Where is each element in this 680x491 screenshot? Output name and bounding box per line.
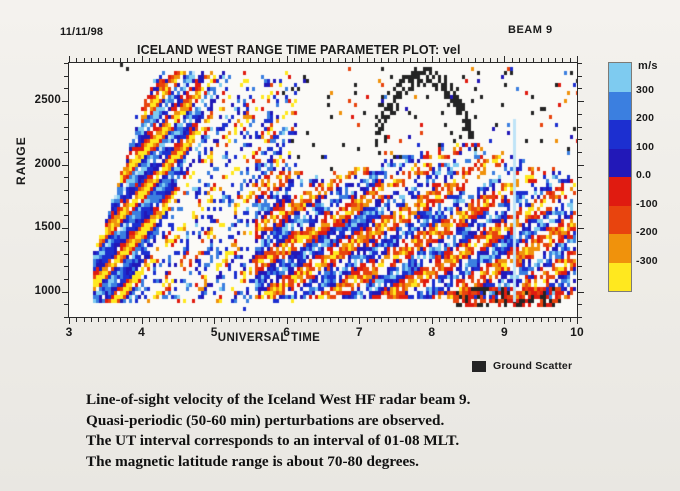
x-tick: [512, 317, 513, 322]
y-tick: [577, 304, 582, 305]
x-tick: [178, 317, 179, 322]
y-tick: [64, 266, 69, 267]
x-tick: [156, 58, 157, 63]
x-tick: [221, 58, 222, 63]
caption-line-1: Line-of-sight velocity of the Iceland We…: [86, 390, 606, 411]
x-tick: [185, 317, 186, 322]
plot-title: ICELAND WEST RANGE TIME PARAMETER PLOT: …: [137, 43, 461, 57]
x-tick: [308, 317, 309, 322]
y-tick: [577, 203, 582, 204]
y-tick: [577, 152, 582, 153]
x-tick: [439, 58, 440, 63]
x-tick: [279, 58, 280, 63]
x-tick: [171, 58, 172, 63]
x-tick: [577, 317, 578, 324]
y-tick: [577, 254, 582, 255]
x-tick: [76, 58, 77, 63]
y-tick: [64, 190, 69, 191]
x-tick: [127, 317, 128, 322]
x-tick: [127, 58, 128, 63]
x-tick: [359, 317, 360, 324]
y-tick: [577, 177, 582, 178]
y-tick: [577, 228, 584, 229]
x-tick: [98, 58, 99, 63]
x-tick: [330, 317, 331, 322]
x-tick: [439, 317, 440, 322]
x-tick: [214, 317, 215, 324]
y-tick: [577, 266, 582, 267]
y-tick: [64, 215, 69, 216]
y-axis-title: RANGE: [14, 136, 28, 185]
x-tick: [229, 317, 230, 322]
x-tick: [526, 58, 527, 63]
x-tick: [316, 58, 317, 63]
x-tick: [425, 58, 426, 63]
x-tick: [381, 317, 382, 322]
y-tick: [64, 203, 69, 204]
x-tick: [483, 317, 484, 322]
x-tick: [221, 317, 222, 322]
x-tick: [163, 58, 164, 63]
caption-line-4: The magnetic latitude range is about 70-…: [86, 452, 606, 473]
x-tick: [149, 317, 150, 322]
y-tick: [577, 88, 582, 89]
x-tick: [207, 58, 208, 63]
x-tick-label: 10: [564, 325, 590, 339]
x-tick: [294, 317, 295, 322]
x-tick: [483, 58, 484, 63]
x-tick: [207, 317, 208, 322]
x-tick-label: 4: [129, 325, 155, 339]
x-tick: [120, 317, 121, 322]
y-tick: [577, 317, 582, 318]
y-tick: [64, 127, 69, 128]
x-tick: [541, 317, 542, 322]
colorbar-band-7: [609, 263, 631, 292]
x-tick: [562, 58, 563, 63]
x-tick: [163, 317, 164, 322]
x-tick: [533, 317, 534, 322]
date-label: 11/11/98: [60, 26, 103, 38]
x-tick: [265, 317, 266, 322]
x-tick: [410, 58, 411, 63]
x-tick: [272, 317, 273, 322]
y-tick: [62, 228, 69, 229]
colorbar-label-5: -200: [636, 226, 658, 238]
x-tick: [454, 317, 455, 322]
x-tick: [475, 317, 476, 322]
y-tick: [577, 127, 582, 128]
x-tick: [330, 58, 331, 63]
x-tick: [142, 56, 143, 63]
x-tick: [229, 58, 230, 63]
colorbar-label-0: 300: [636, 84, 654, 96]
y-tick: [577, 114, 582, 115]
x-tick: [185, 58, 186, 63]
x-tick: [105, 317, 106, 322]
ground-scatter-label: Ground Scatter: [493, 360, 572, 372]
x-tick: [113, 317, 114, 322]
x-tick: [91, 58, 92, 63]
x-tick: [352, 317, 353, 322]
caption-line-3: The UT interval corresponds to an interv…: [86, 431, 606, 452]
x-tick: [192, 317, 193, 322]
velocity-colorbar: [608, 62, 632, 292]
figure-caption: Line-of-sight velocity of the Iceland We…: [86, 390, 606, 472]
x-tick: [250, 317, 251, 322]
x-tick: [338, 58, 339, 63]
y-tick: [577, 215, 582, 216]
x-tick: [258, 317, 259, 322]
x-tick: [432, 317, 433, 324]
x-tick: [504, 56, 505, 63]
colorbar-band-6: [609, 234, 631, 263]
x-tick: [301, 58, 302, 63]
x-tick: [171, 317, 172, 322]
x-tick: [562, 317, 563, 322]
x-tick: [323, 317, 324, 322]
y-tick: [64, 177, 69, 178]
x-tick: [308, 58, 309, 63]
x-tick: [541, 58, 542, 63]
plot-area: 3456789101000150020002500: [68, 62, 578, 318]
x-tick: [236, 317, 237, 322]
x-tick: [120, 58, 121, 63]
x-axis-title: UNIVERSAL TIME: [218, 332, 321, 344]
y-tick: [62, 101, 69, 102]
x-tick: [192, 58, 193, 63]
colorbar-band-1: [609, 92, 631, 121]
y-tick: [64, 304, 69, 305]
colorbar-band-2: [609, 120, 631, 149]
x-tick: [345, 58, 346, 63]
y-tick: [62, 165, 69, 166]
y-tick-label: 1000: [15, 285, 61, 297]
x-tick: [504, 317, 505, 324]
colorbar-band-0: [609, 63, 631, 92]
x-tick: [294, 58, 295, 63]
x-tick: [287, 56, 288, 63]
y-tick: [577, 165, 584, 166]
x-tick: [388, 58, 389, 63]
x-tick: [512, 58, 513, 63]
y-tick: [577, 63, 582, 64]
x-tick: [178, 58, 179, 63]
x-tick: [76, 317, 77, 322]
x-tick: [468, 317, 469, 322]
y-tick: [64, 63, 69, 64]
y-tick: [64, 241, 69, 242]
colorbar-label-4: -100: [636, 198, 658, 210]
x-tick: [519, 58, 520, 63]
y-tick: [577, 279, 582, 280]
x-tick: [359, 56, 360, 63]
x-tick: [272, 58, 273, 63]
y-tick-label: 2500: [15, 94, 61, 106]
colorbar-label-1: 200: [636, 112, 654, 124]
x-tick: [570, 317, 571, 322]
x-tick: [410, 317, 411, 322]
x-tick: [84, 317, 85, 322]
y-tick-label: 1500: [15, 221, 61, 233]
x-tick: [432, 56, 433, 63]
y-tick: [64, 76, 69, 77]
colorbar-label-6: -300: [636, 255, 658, 267]
y-tick: [62, 292, 69, 293]
x-tick: [388, 317, 389, 322]
colorbar-band-4: [609, 177, 631, 206]
x-tick: [149, 58, 150, 63]
x-tick: [555, 317, 556, 322]
x-tick: [352, 58, 353, 63]
x-tick: [497, 58, 498, 63]
x-tick: [526, 317, 527, 322]
x-tick: [374, 317, 375, 322]
x-tick: [555, 58, 556, 63]
x-tick: [374, 58, 375, 63]
figure-page: 11/11/98 BEAM 9 ICELAND WEST RANGE TIME …: [0, 0, 680, 491]
x-tick: [367, 317, 368, 322]
x-tick: [446, 58, 447, 63]
x-tick: [301, 317, 302, 322]
x-tick: [417, 317, 418, 322]
x-tick: [403, 58, 404, 63]
y-tick: [64, 139, 69, 140]
colorbar-label-3: 0.0: [636, 169, 651, 181]
x-tick: [323, 58, 324, 63]
x-tick: [461, 58, 462, 63]
x-tick-label: 8: [419, 325, 445, 339]
x-tick: [84, 58, 85, 63]
caption-line-2: Quasi-periodic (50-60 min) perturbations…: [86, 411, 606, 432]
x-tick: [417, 58, 418, 63]
x-tick: [200, 58, 201, 63]
y-tick: [64, 114, 69, 115]
y-tick: [577, 241, 582, 242]
y-tick: [577, 139, 582, 140]
x-tick: [214, 56, 215, 63]
y-tick: [577, 76, 582, 77]
x-tick: [113, 58, 114, 63]
x-tick: [338, 317, 339, 322]
ground-scatter-legend: Ground Scatter: [472, 360, 572, 372]
y-tick: [577, 190, 582, 191]
y-tick: [64, 279, 69, 280]
x-tick: [367, 58, 368, 63]
y-tick: [577, 101, 584, 102]
rti-heatmap-canvas: [69, 63, 577, 317]
x-tick-label: 7: [346, 325, 372, 339]
y-tick: [64, 254, 69, 255]
x-tick: [265, 58, 266, 63]
x-tick-label: 9: [491, 325, 517, 339]
x-tick: [69, 56, 70, 63]
ground-scatter-swatch: [472, 361, 486, 372]
x-tick: [258, 58, 259, 63]
beam-label: BEAM 9: [508, 24, 553, 36]
x-tick: [454, 58, 455, 63]
x-tick: [490, 317, 491, 322]
x-tick: [497, 317, 498, 322]
x-tick: [98, 317, 99, 322]
colorbar-unit-label: m/s: [638, 60, 658, 72]
x-tick: [236, 58, 237, 63]
x-tick: [279, 317, 280, 322]
colorbar-band-5: [609, 206, 631, 235]
x-tick-label: 3: [56, 325, 82, 339]
x-tick: [403, 317, 404, 322]
x-tick: [69, 317, 70, 324]
y-tick: [577, 292, 584, 293]
x-tick: [548, 58, 549, 63]
y-tick: [64, 152, 69, 153]
x-tick: [134, 317, 135, 322]
x-tick: [468, 58, 469, 63]
y-tick: [64, 317, 69, 318]
x-tick: [156, 317, 157, 322]
x-tick: [142, 317, 143, 324]
colorbar-band-3: [609, 149, 631, 178]
x-tick: [446, 317, 447, 322]
x-tick: [316, 317, 317, 322]
x-tick: [548, 317, 549, 322]
x-tick: [490, 58, 491, 63]
x-tick: [570, 58, 571, 63]
x-tick: [200, 317, 201, 322]
colorbar-label-2: 100: [636, 141, 654, 153]
x-tick: [461, 317, 462, 322]
x-tick: [250, 58, 251, 63]
y-tick: [64, 88, 69, 89]
x-tick: [475, 58, 476, 63]
x-tick: [577, 56, 578, 63]
x-tick: [533, 58, 534, 63]
x-tick: [91, 317, 92, 322]
x-tick: [287, 317, 288, 324]
x-tick: [105, 58, 106, 63]
x-tick: [396, 317, 397, 322]
x-tick: [345, 317, 346, 322]
x-tick: [425, 317, 426, 322]
x-tick: [243, 317, 244, 322]
x-tick: [381, 58, 382, 63]
x-tick: [243, 58, 244, 63]
x-tick: [134, 58, 135, 63]
x-tick: [396, 58, 397, 63]
x-tick: [519, 317, 520, 322]
